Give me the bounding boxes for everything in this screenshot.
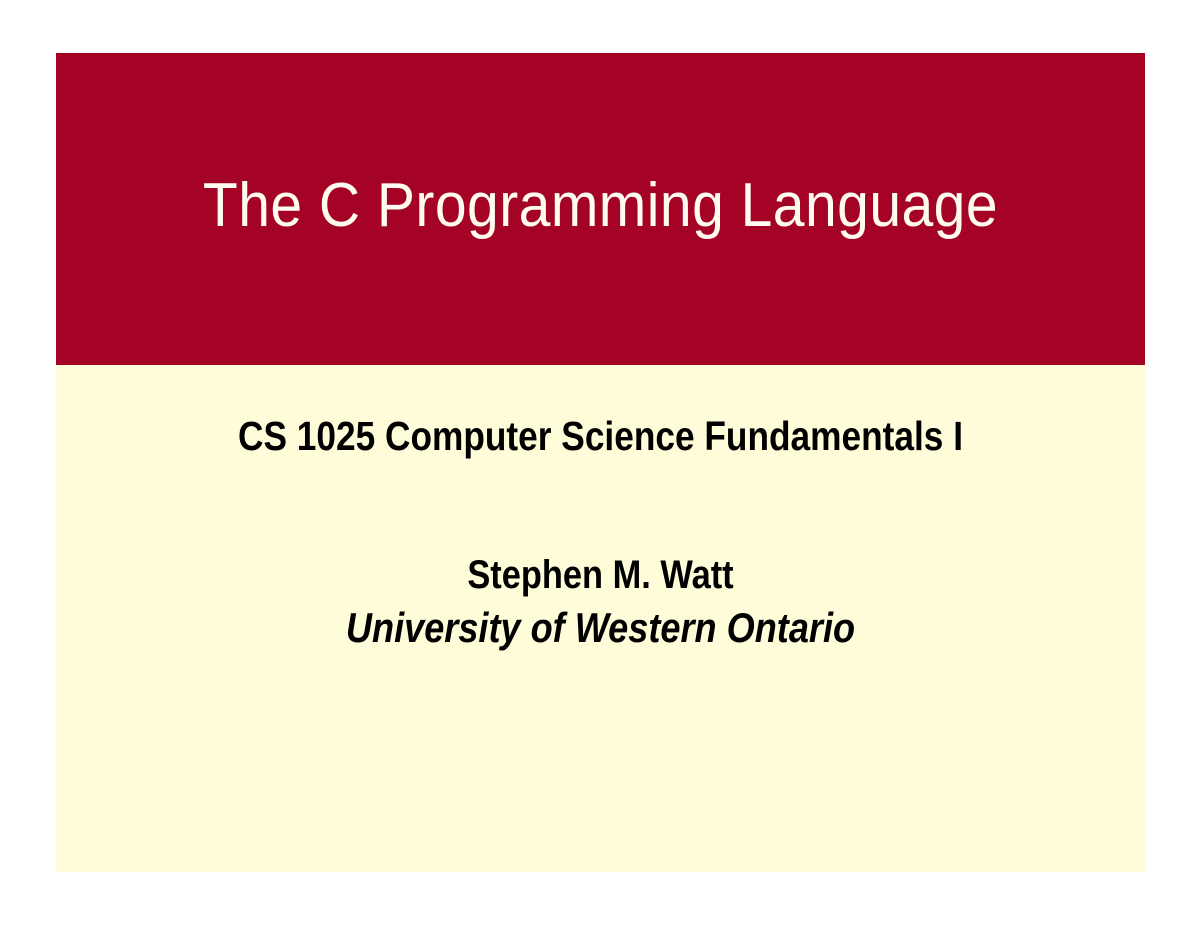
slide-body: CS 1025 Computer Science Fundamentals I … xyxy=(56,365,1145,872)
author-name: Stephen M. Watt xyxy=(132,552,1069,599)
title-banner: The C Programming Language xyxy=(56,53,1145,365)
title-slide: The C Programming Language CS 1025 Compu… xyxy=(56,53,1145,872)
author-affiliation: University of Western Ontario xyxy=(132,599,1069,658)
author-block: Stephen M. Watt University of Western On… xyxy=(56,552,1145,658)
course-subtitle: CS 1025 Computer Science Fundamentals I xyxy=(132,414,1069,459)
slide-title: The C Programming Language xyxy=(100,173,1102,238)
